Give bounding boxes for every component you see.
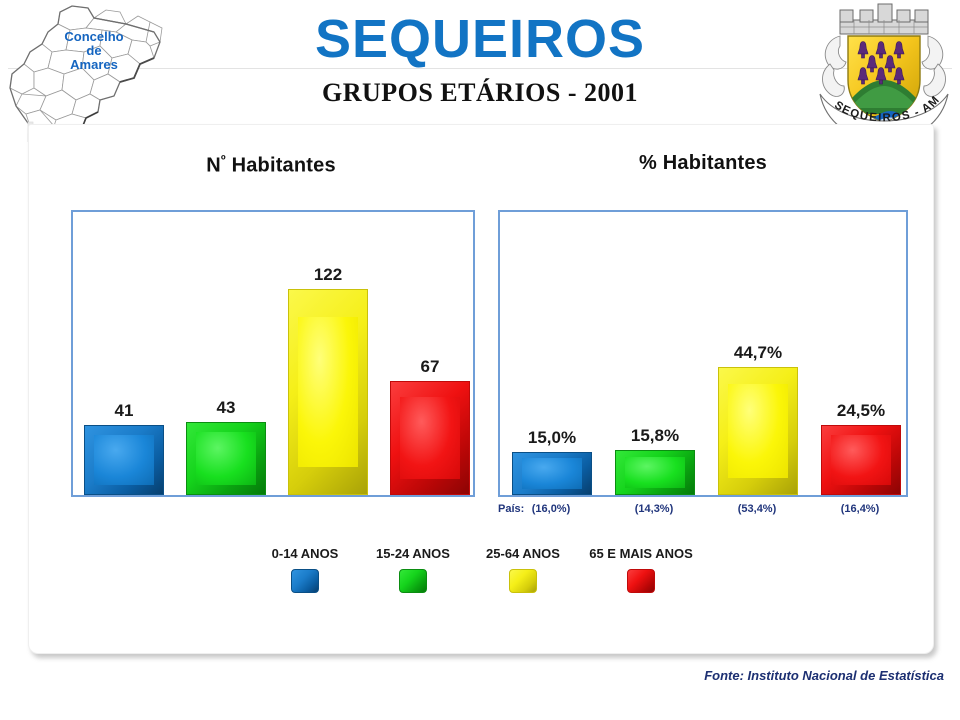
ordinal-superscript: º: [221, 152, 226, 167]
country-value: (14,3%): [611, 503, 697, 515]
country-value: (53,4%): [714, 503, 800, 515]
bar-value-label: 24,5%: [795, 401, 927, 421]
country-reference-row: País: (16,0%) (14,3%) (53,4%) (16,4%): [498, 503, 908, 521]
bar-slot: 67: [390, 381, 470, 495]
legend-label: 15-24 ANOS: [361, 546, 465, 561]
legend-item-25-64-anos[interactable]: 25-64 ANOS: [471, 546, 575, 598]
legend-item-15-24-anos[interactable]: 15-24 ANOS: [361, 546, 465, 598]
coat-of-arms-icon: SEQUEIROS - AMARES: [810, 2, 958, 144]
bar-slot: 122: [288, 289, 368, 495]
bar-slot: 41: [84, 425, 164, 495]
bar-slot: 15,8%: [615, 450, 695, 495]
bar-65-e-mais-anos[interactable]: [390, 381, 470, 495]
bar-slot: 24,5%: [821, 425, 901, 495]
bar-15-24-anos[interactable]: [186, 422, 266, 495]
plot-area-percent: 15,0% 15,8% 44,7% 24,5%: [500, 212, 906, 495]
legend-swatch-red: [627, 569, 655, 593]
chart-panel-percent: 15,0% 15,8% 44,7% 24,5%: [498, 210, 908, 497]
legend-item-0-14-anos[interactable]: 0-14 ANOS: [255, 546, 355, 598]
country-value: (16,0%): [508, 503, 594, 515]
legend-label: 25-64 ANOS: [471, 546, 575, 561]
country-value: (16,4%): [817, 503, 903, 515]
bar-slot: 15,0%: [512, 452, 592, 495]
bar-pct-0-14-anos[interactable]: [512, 452, 592, 495]
bar-value-label: 43: [160, 398, 292, 418]
bar-value-label: 15,8%: [589, 426, 721, 446]
source-note: Fonte: Instituto Nacional de Estatística: [0, 668, 944, 683]
legend-label: 0-14 ANOS: [255, 546, 355, 561]
legend-swatch-yellow: [509, 569, 537, 593]
bar-value-label: 122: [262, 265, 394, 285]
legend-swatch-blue: [291, 569, 319, 593]
chart-title-text: Habitantes: [232, 155, 336, 177]
legend-item-65-e-mais-anos[interactable]: 65 E MAIS ANOS: [575, 546, 707, 598]
chart-legend: 0-14 ANOS 15-24 ANOS 25-64 ANOS 65 E MAI…: [255, 546, 695, 602]
bar-pct-15-24-anos[interactable]: [615, 450, 695, 495]
chart-title-absolute: Nº Habitantes: [71, 152, 471, 178]
chart-panel-absolute: 41 43 122 67: [71, 210, 475, 497]
chart-title-percent: % Habitantes: [498, 152, 908, 175]
plot-area-absolute: 41 43 122 67: [73, 212, 473, 495]
bar-pct-65-e-mais-anos[interactable]: [821, 425, 901, 495]
bar-0-14-anos[interactable]: [84, 425, 164, 495]
legend-label: 65 E MAIS ANOS: [575, 546, 707, 561]
bar-value-label: 44,7%: [692, 343, 824, 363]
bar-pct-25-64-anos[interactable]: [718, 367, 798, 495]
coat-of-arms: SEQUEIROS - AMARES: [810, 2, 958, 144]
amares-municipality-map: Concelho de Amares: [2, 2, 180, 142]
legend-swatch-green: [399, 569, 427, 593]
bar-slot: 43: [186, 422, 266, 495]
bar-slot: 44,7%: [718, 367, 798, 495]
bar-value-label: 67: [364, 357, 496, 377]
bar-25-64-anos[interactable]: [288, 289, 368, 495]
map-label: Concelho de Amares: [42, 30, 146, 72]
